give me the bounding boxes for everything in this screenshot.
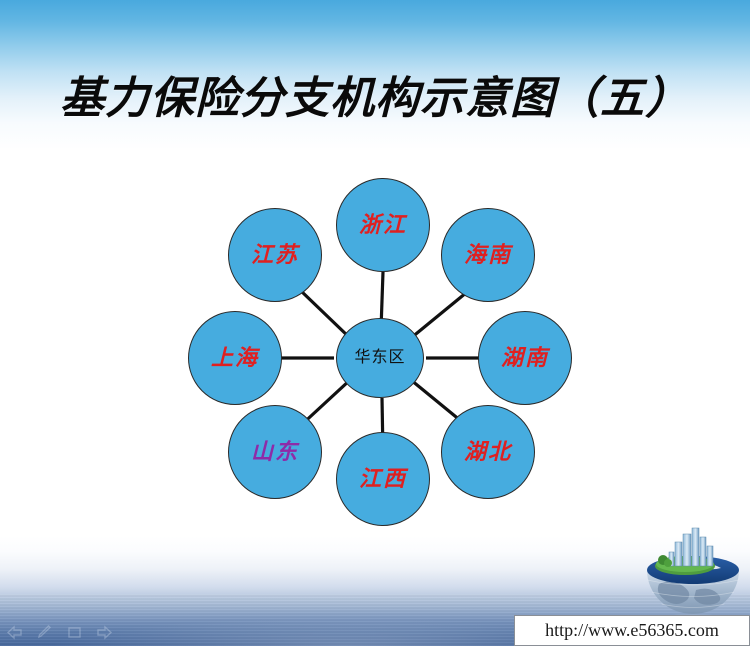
pencil-icon <box>36 625 53 640</box>
node-label: 上海 <box>211 347 259 369</box>
watermark-url: http://www.e56365.com <box>545 620 719 641</box>
node-label: 山东 <box>251 441 299 463</box>
back-arrow-icon <box>6 625 23 640</box>
org-diagram: 华东区 浙江 海南 湖南 湖北 江西 山东 上海 江苏 <box>160 160 620 530</box>
node-hub-huadong[interactable]: 华东区 <box>336 318 424 398</box>
node-label: 江西 <box>359 468 407 490</box>
page-title: 基力保险分支机构示意图（五） <box>0 62 750 126</box>
node-label: 湖北 <box>464 441 512 463</box>
node-label: 华东区 <box>354 350 405 366</box>
node-label: 湖南 <box>501 347 549 369</box>
watermark-url-box: http://www.e56365.com <box>514 615 750 646</box>
slide-canvas: 基力保险分支机构示意图（五） 华东区 浙江 海南 湖南 <box>0 0 750 646</box>
node-jiangsu[interactable]: 江苏 <box>228 208 322 302</box>
node-jiangxi[interactable]: 江西 <box>336 432 430 526</box>
node-label: 海南 <box>464 244 512 266</box>
node-hainan[interactable]: 海南 <box>441 208 535 302</box>
square-icon <box>66 625 83 640</box>
node-shandong[interactable]: 山东 <box>228 405 322 499</box>
forward-arrow-icon <box>96 625 113 640</box>
node-label: 江苏 <box>251 244 299 266</box>
node-label: 浙江 <box>359 214 407 236</box>
node-hubei[interactable]: 湖北 <box>441 405 535 499</box>
globe-city-icon <box>641 524 745 624</box>
node-shanghai[interactable]: 上海 <box>188 311 282 405</box>
node-hunan[interactable]: 湖南 <box>478 311 572 405</box>
node-zhejiang[interactable]: 浙江 <box>336 178 430 272</box>
ghost-icon-group <box>6 625 113 640</box>
